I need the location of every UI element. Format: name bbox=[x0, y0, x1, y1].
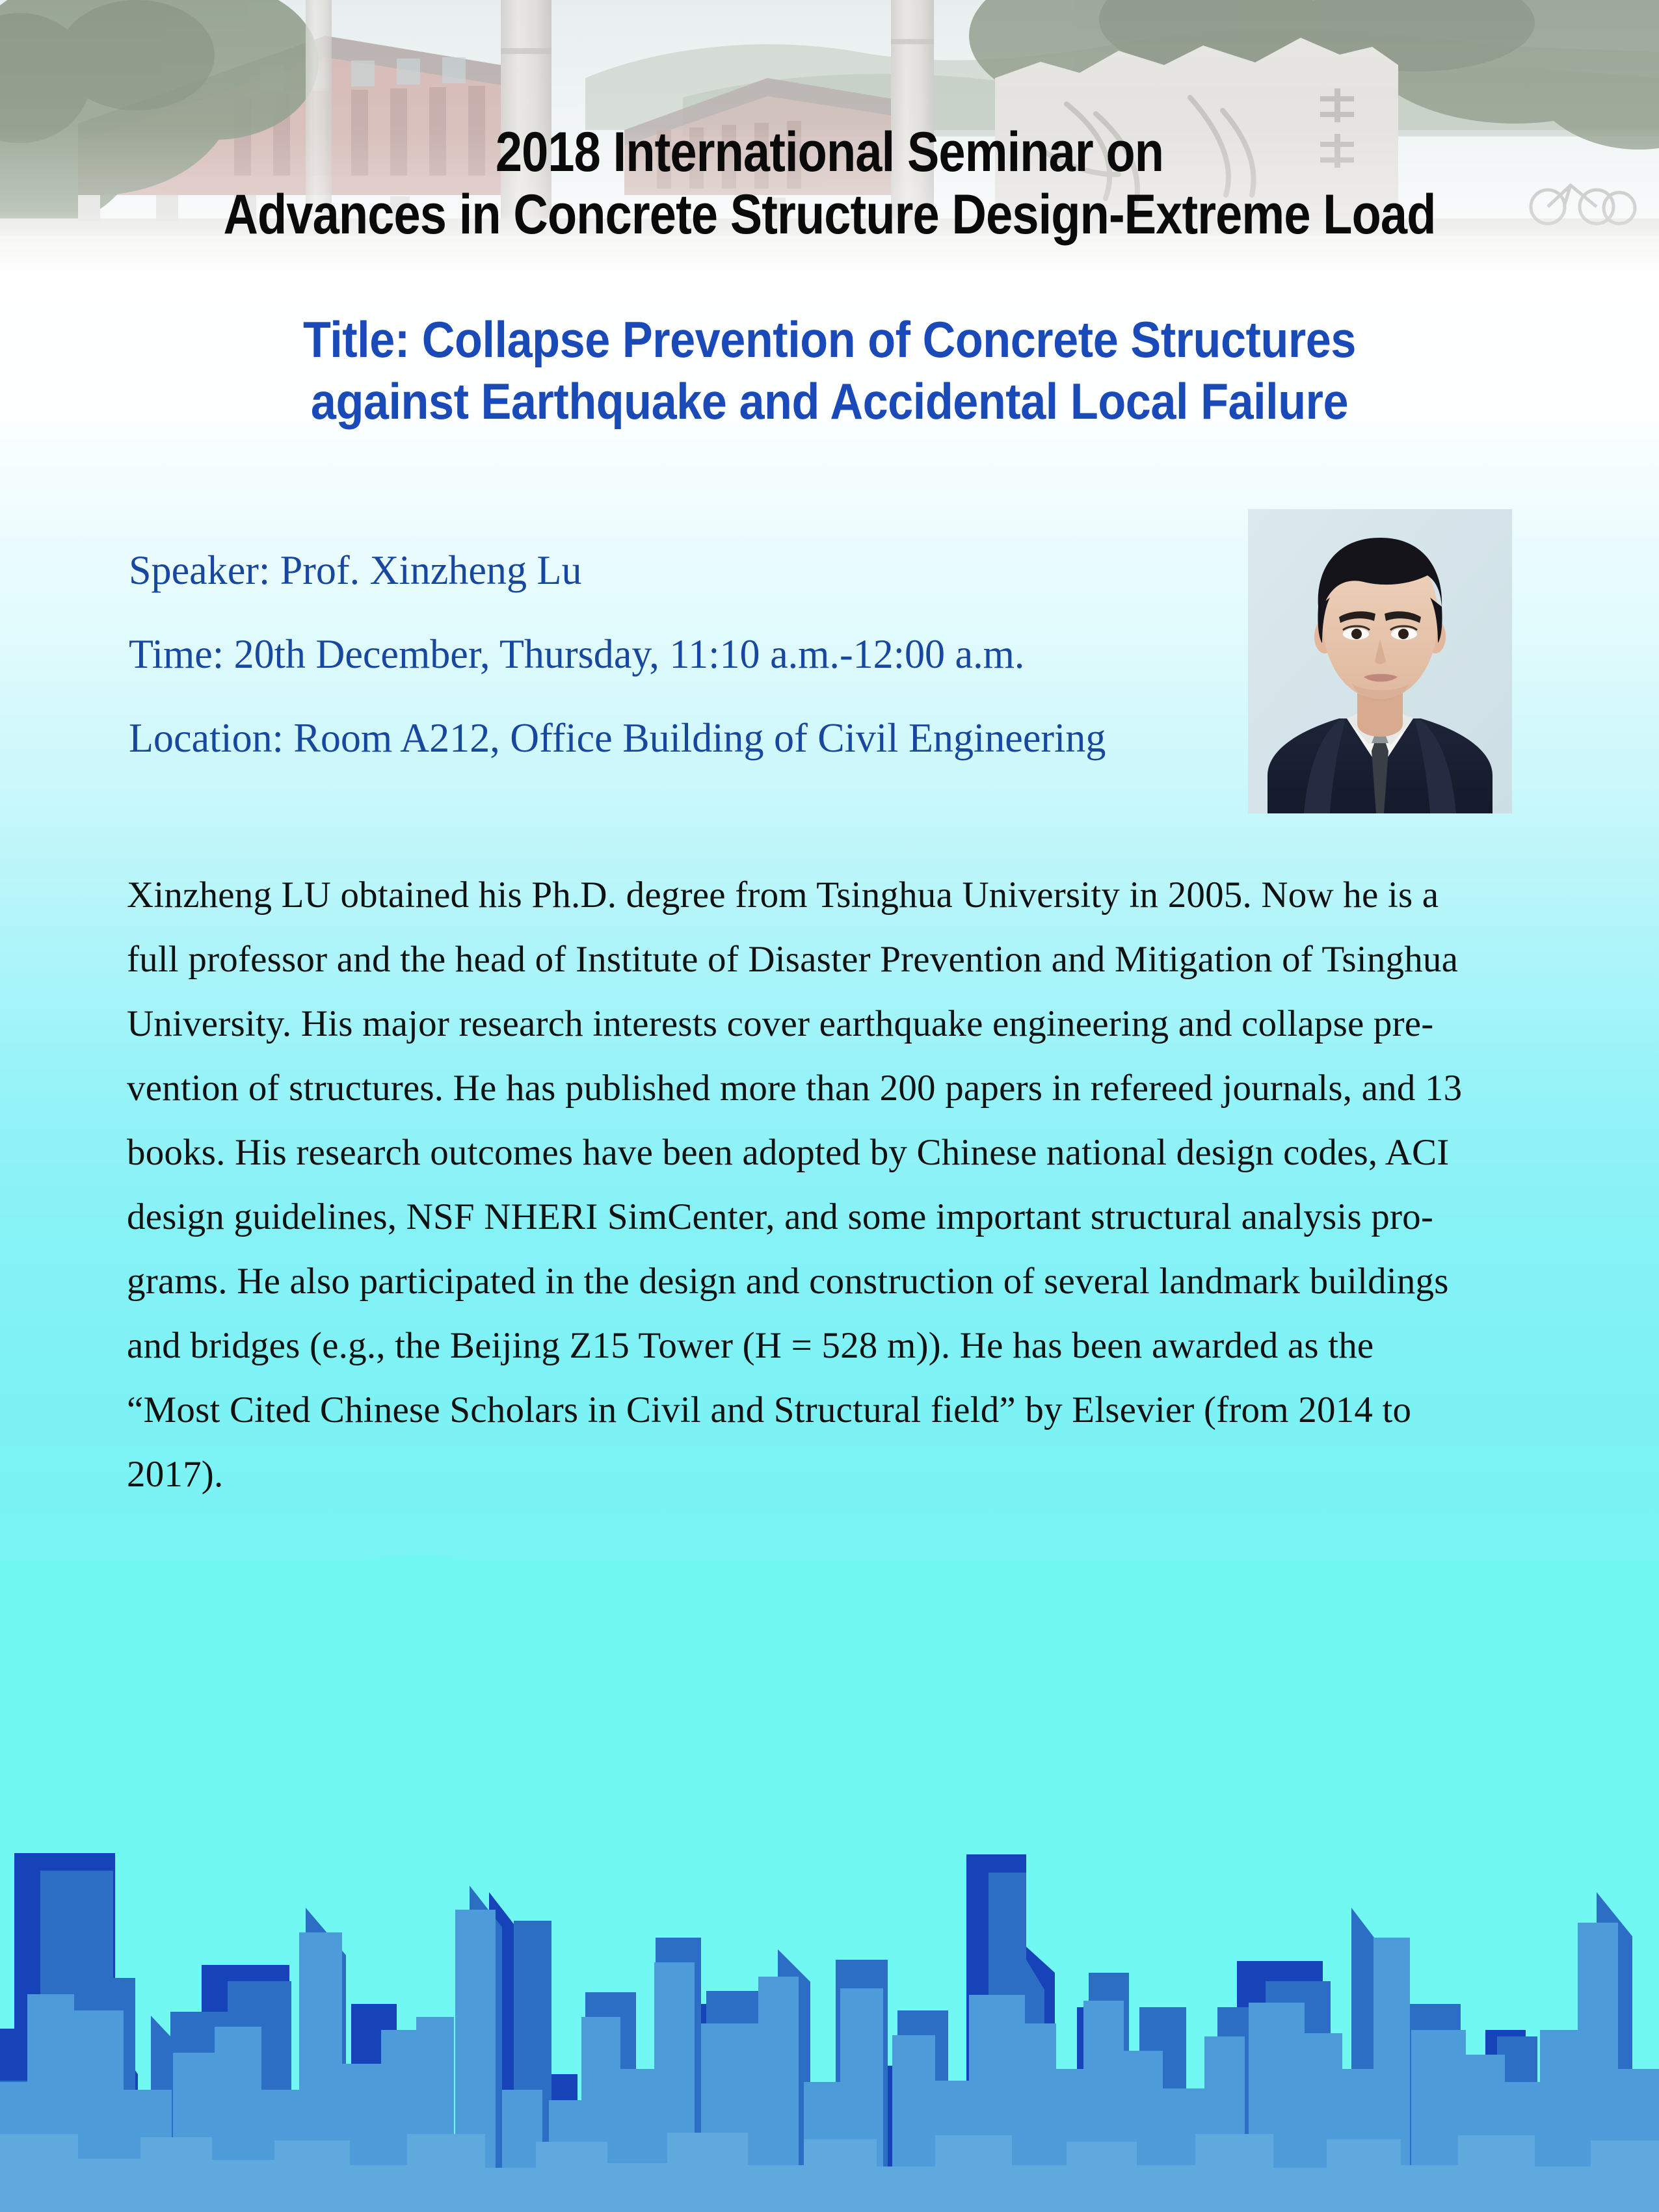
seminar-details: Speaker: Prof. Xinzheng Lu Time: 20th De… bbox=[129, 549, 1234, 759]
bio-line: 2017). bbox=[127, 1456, 1532, 1493]
event-header-line-1: 2018 International Seminar on bbox=[116, 121, 1543, 183]
bio-line: and bridges (e.g., the Beijing Z15 Tower… bbox=[127, 1327, 1532, 1364]
talk-title-line-2: against Earthquake and Accidental Local … bbox=[83, 371, 1576, 432]
talk-title: Title: Collapse Prevention of Concrete S… bbox=[83, 309, 1576, 432]
event-header-line-2: Advances in Concrete Structure Design-Ex… bbox=[116, 183, 1543, 246]
bio-line: “Most Cited Chinese Scholars in Civil an… bbox=[127, 1391, 1532, 1429]
wave-divider bbox=[0, 1515, 1659, 1704]
speaker-line: Speaker: Prof. Xinzheng Lu bbox=[129, 549, 1201, 591]
bio-line: grams. He also participated in the desig… bbox=[127, 1263, 1532, 1300]
bio-line: vention of structures. He has published … bbox=[127, 1070, 1532, 1107]
event-header: 2018 International Seminar on Advances i… bbox=[116, 121, 1543, 246]
talk-title-line-1: Title: Collapse Prevention of Concrete S… bbox=[83, 309, 1576, 371]
location-line: Location: Room A212, Office Building of … bbox=[129, 717, 1201, 759]
speaker-biography: Xinzheng LU obtained his Ph.D. degree fr… bbox=[127, 876, 1532, 1493]
bio-line: design guidelines, NSF NHERI SimCenter, … bbox=[127, 1198, 1532, 1235]
bio-line: full professor and the head of Institute… bbox=[127, 941, 1532, 978]
bio-line: books. His research outcomes have been a… bbox=[127, 1134, 1532, 1171]
bio-line: University. His major research interests… bbox=[127, 1005, 1532, 1042]
time-line: Time: 20th December, Thursday, 11:10 a.m… bbox=[129, 633, 1201, 675]
city-skyline bbox=[0, 1809, 1659, 2212]
bio-line: Xinzheng LU obtained his Ph.D. degree fr… bbox=[127, 876, 1532, 914]
speaker-portrait bbox=[1248, 509, 1512, 813]
seminar-poster: HUNAN UNIVERSITY bbox=[0, 0, 1659, 2212]
